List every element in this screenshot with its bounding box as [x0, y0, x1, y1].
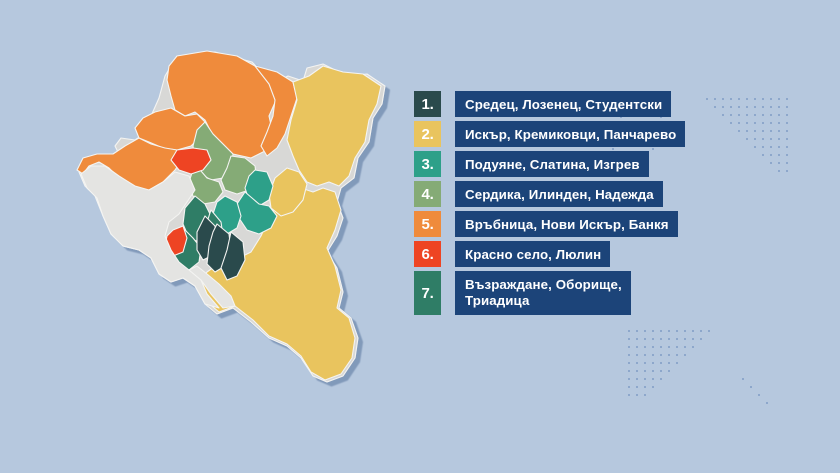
legend-gap	[441, 121, 455, 147]
legend-label: Искър, Кремиковци, Панчарево	[455, 121, 685, 147]
legend-gap	[441, 271, 455, 315]
legend-number-badge: 1.	[414, 91, 441, 117]
dot-grid-lower-right	[742, 378, 792, 418]
legend-row[interactable]: 7.Възраждане, Оборище, Триадица	[414, 271, 814, 315]
legend-label: Подуяне, Слатина, Изгрев	[455, 151, 649, 177]
legend-row[interactable]: 4.Сердика, Илинден, Надежда	[414, 181, 814, 207]
legend-list: 1.Средец, Лозенец, Студентски2.Искър, Кр…	[414, 91, 814, 319]
legend-row[interactable]: 3.Подуяне, Слатина, Изгрев	[414, 151, 814, 177]
dot-grid-bottom	[628, 330, 748, 410]
region-kremikovtsi	[287, 66, 381, 186]
legend-gap	[441, 211, 455, 237]
legend-gap	[441, 181, 455, 207]
legend-number-badge: 4.	[414, 181, 441, 207]
sofia-district-map	[55, 46, 405, 396]
legend-gap	[441, 241, 455, 267]
legend-label: Сердика, Илинден, Надежда	[455, 181, 663, 207]
legend-label: Връбница, Нови Искър, Банкя	[455, 211, 678, 237]
legend-row[interactable]: 5.Връбница, Нови Искър, Банкя	[414, 211, 814, 237]
legend-label: Възраждане, Оборище, Триадица	[455, 271, 631, 315]
legend-row[interactable]: 2.Искър, Кремиковци, Панчарево	[414, 121, 814, 147]
legend-number-badge: 3.	[414, 151, 441, 177]
legend-label: Средец, Лозенец, Студентски	[455, 91, 671, 117]
legend-row[interactable]: 6.Красно село, Люлин	[414, 241, 814, 267]
legend-gap	[441, 151, 455, 177]
legend-number-badge: 5.	[414, 211, 441, 237]
infographic-canvas: 1.Средец, Лозенец, Студентски2.Искър, Кр…	[0, 0, 840, 473]
legend-row[interactable]: 1.Средец, Лозенец, Студентски	[414, 91, 814, 117]
legend-number-badge: 7.	[414, 271, 441, 315]
legend-label: Красно село, Люлин	[455, 241, 610, 267]
legend-number-badge: 6.	[414, 241, 441, 267]
legend-gap	[441, 91, 455, 117]
legend-number-badge: 2.	[414, 121, 441, 147]
